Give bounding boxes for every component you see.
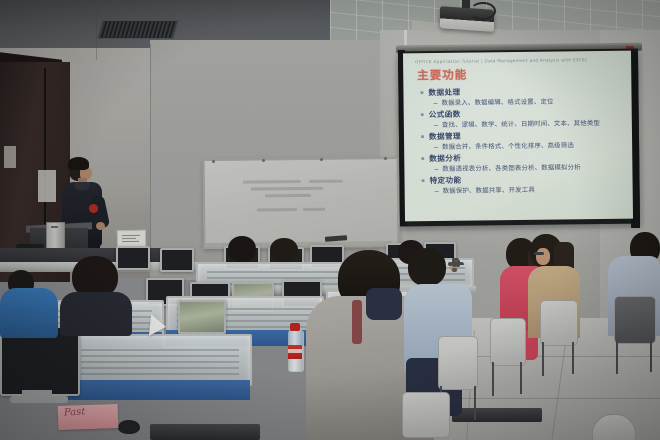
paper-sheet — [149, 314, 167, 338]
classroom-photo: OFFICE Application Tutorial | Data Manag… — [0, 0, 660, 440]
bottle-cap — [290, 323, 300, 331]
bullet-detail: 数据保护、数据共享、开发工具 — [421, 184, 627, 197]
posted-paper-2 — [4, 146, 16, 168]
shirt-logo-icon — [89, 204, 98, 213]
slide-bullet: 数据分析 数据透视表分析、各类图表分析、数据模拟分析 — [420, 151, 626, 175]
keyboard — [452, 408, 542, 422]
projector-cable — [470, 2, 496, 20]
wall-seam — [150, 44, 151, 264]
projected-slide: OFFICE Application Tutorial | Data Manag… — [403, 51, 633, 222]
partition-base-front — [68, 380, 250, 400]
whiteboard-clip — [262, 159, 265, 162]
ceiling-seam-2 — [96, 0, 97, 60]
desk-partition-front — [68, 334, 252, 386]
slide-bullet: 数据处理 数据录入、数据编辑、格式设置、定位 — [419, 85, 625, 109]
whiteboard-clip — [212, 160, 215, 163]
monitor-base — [10, 396, 68, 403]
slide-title: 主要功能 — [417, 67, 467, 84]
monitor-powered — [178, 300, 226, 334]
presenter-hand — [96, 222, 105, 230]
bottle-label-stripe — [288, 349, 302, 353]
presenter-hair — [68, 157, 89, 170]
mouse — [118, 420, 140, 434]
monitor — [116, 246, 150, 270]
pc-tower-drive — [51, 226, 58, 228]
slide-bullet-list: 数据处理 数据录入、数据编辑、格式设置、定位 公式函数 查找、逻辑、数学、统计、… — [419, 85, 626, 198]
monitor — [160, 248, 194, 272]
posted-paper — [38, 170, 56, 202]
keyboard — [150, 424, 260, 440]
whiteboard-clip — [384, 157, 387, 160]
slide-bullet: 数据管理 数据合并、条件格式、个性化排序、高级筛选 — [420, 129, 626, 153]
ceiling-vent-icon — [97, 20, 178, 39]
whiteboard — [203, 157, 400, 249]
presenter-collar — [74, 182, 90, 190]
slide-bullet: 公式函数 查找、逻辑、数学、统计、日期时间、文本、其他类型 — [420, 107, 626, 131]
card-handwriting: Past — [64, 406, 86, 418]
whiteboard-clip — [320, 158, 323, 161]
slide-bullet: 特定功能 数据保护、数据共享、开发工具 — [420, 173, 626, 197]
